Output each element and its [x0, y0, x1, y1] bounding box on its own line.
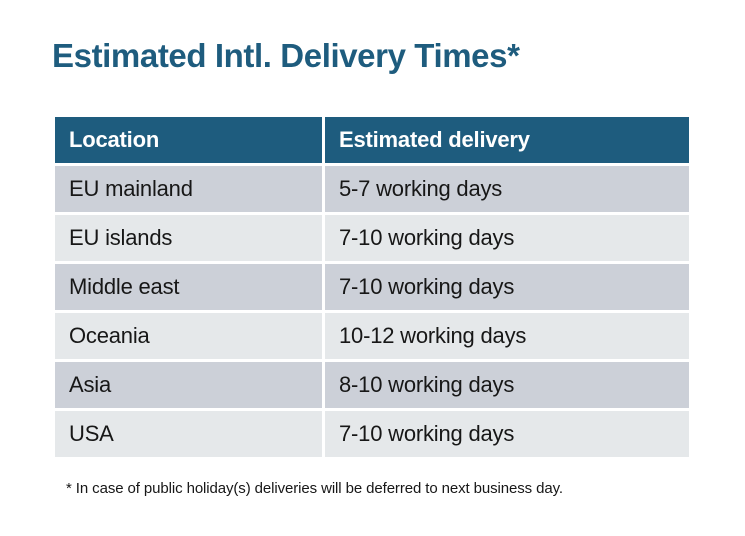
cell-estimate: 8-10 working days [325, 362, 689, 408]
cell-estimate: 10-12 working days [325, 313, 689, 359]
cell-location: EU islands [55, 215, 322, 261]
cell-estimate: 5-7 working days [325, 166, 689, 212]
page-title: Estimated Intl. Delivery Times* [52, 36, 520, 76]
table-row: Oceania 10-12 working days [55, 313, 689, 359]
delivery-times-page: Estimated Intl. Delivery Times* Location… [0, 0, 745, 536]
footnote: * In case of public holiday(s) deliverie… [66, 480, 563, 497]
delivery-times-table: Location Estimated delivery EU mainland … [52, 114, 692, 460]
cell-estimate: 7-10 working days [325, 411, 689, 457]
cell-location: USA [55, 411, 322, 457]
column-header-estimated-delivery: Estimated delivery [325, 117, 689, 163]
cell-location: EU mainland [55, 166, 322, 212]
table-row: Asia 8-10 working days [55, 362, 689, 408]
table-row: USA 7-10 working days [55, 411, 689, 457]
table-body: EU mainland 5-7 working days EU islands … [55, 166, 689, 457]
cell-location: Oceania [55, 313, 322, 359]
table-row: EU islands 7-10 working days [55, 215, 689, 261]
cell-location: Asia [55, 362, 322, 408]
table-row: EU mainland 5-7 working days [55, 166, 689, 212]
column-header-location: Location [55, 117, 322, 163]
table-header-row: Location Estimated delivery [55, 117, 689, 163]
table-row: Middle east 7-10 working days [55, 264, 689, 310]
cell-estimate: 7-10 working days [325, 215, 689, 261]
cell-location: Middle east [55, 264, 322, 310]
cell-estimate: 7-10 working days [325, 264, 689, 310]
table-header: Location Estimated delivery [55, 117, 689, 163]
